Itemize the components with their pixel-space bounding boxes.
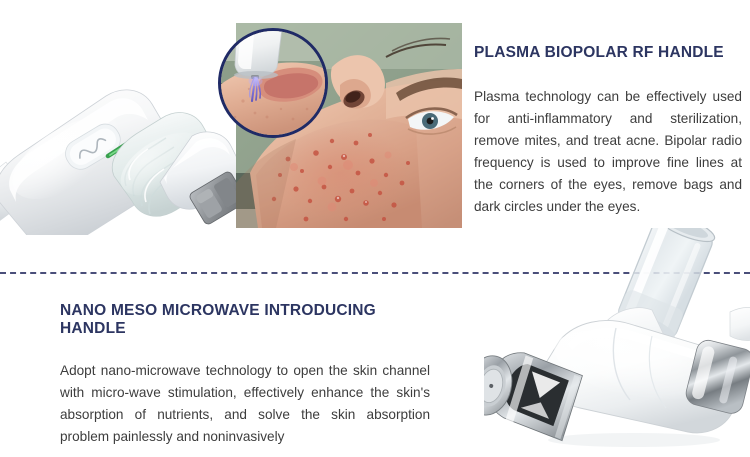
plasma-text-block: PLASMA BIOPOLAR RF HANDLE Plasma technol… [474,44,742,218]
plasma-handpiece-graphic [0,30,240,235]
plasma-section-body: Plasma technology can be effectively use… [474,86,742,218]
nano-meso-section-body: Adopt nano-microwave technology to open … [60,360,430,448]
nano-meso-handpiece-graphic [484,228,750,457]
plasma-handpiece-image [0,30,240,235]
nano-meso-section-title: NANO MESO MICROWAVE INTRODUCING HANDLE [60,302,430,338]
plasma-section-title: PLASMA BIOPOLAR RF HANDLE [474,44,742,62]
nano-meso-text-block: NANO MESO MICROWAVE INTRODUCING HANDLE A… [60,302,430,448]
plasma-zoom-inset [218,28,328,138]
promo-page: PLASMA BIOPOLAR RF HANDLE Plasma technol… [0,0,750,457]
nano-meso-handpiece-image [484,228,750,457]
zoom-inset-graphic [221,31,325,135]
